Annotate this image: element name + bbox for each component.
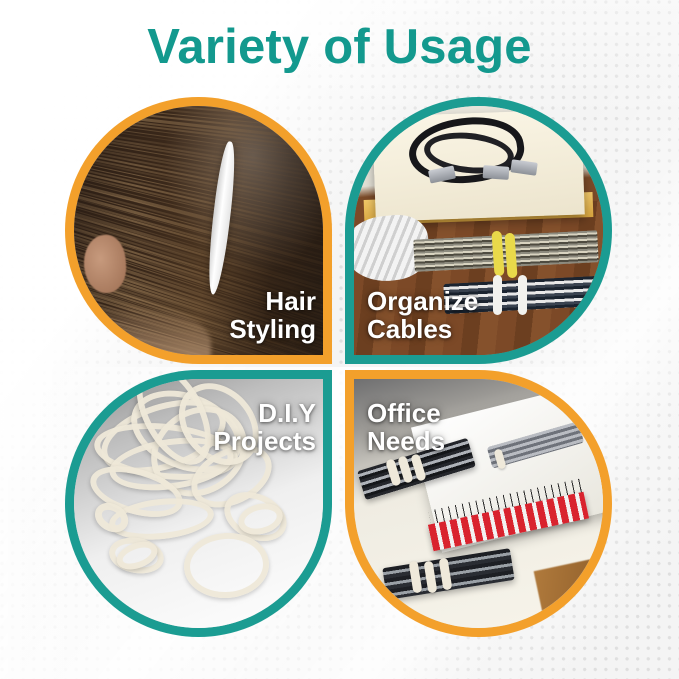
card-label-office-needs: Office Needs — [367, 400, 445, 455]
card-label-hair-styling: Hair Styling — [229, 288, 316, 343]
white-elastic-band-2 — [518, 275, 527, 315]
rubber-band-loose-5 — [181, 531, 270, 601]
desk-edge — [534, 556, 603, 620]
white-elastic-band-1 — [493, 275, 502, 315]
card-label-organize-cables: Organize Cables — [367, 288, 478, 343]
page-title: Variety of Usage — [0, 22, 679, 73]
usage-card-grid — [0, 0, 679, 679]
usb-plug-2 — [483, 165, 510, 180]
card-label-diy-projects: D.I.Y Projects — [213, 400, 316, 455]
